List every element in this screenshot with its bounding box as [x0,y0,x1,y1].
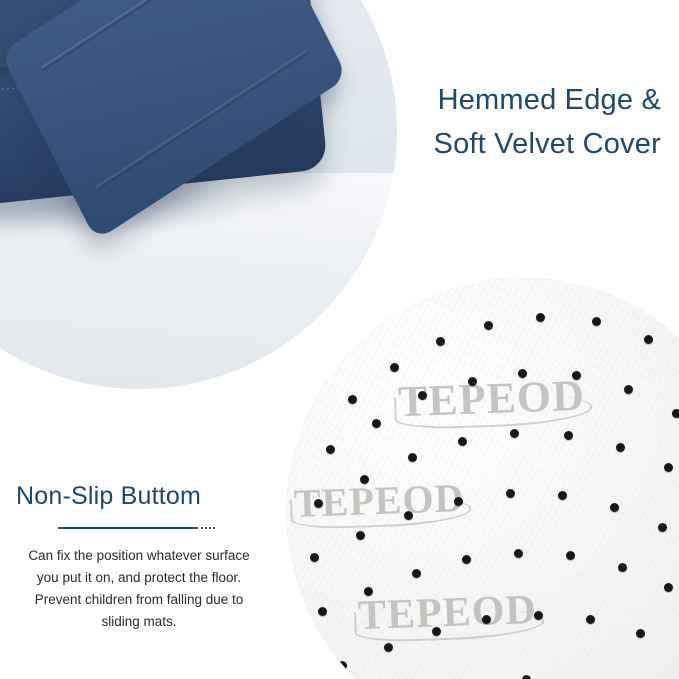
feature-title: Non-Slip Buttom [16,482,276,511]
anti-slip-dot [432,627,441,636]
anti-slip-dot [310,553,319,562]
anti-slip-dot [522,675,531,679]
anti-slip-dot [462,555,471,564]
anti-slip-dot [624,385,633,394]
feature-divider [58,527,198,529]
anti-slip-dot [314,499,323,508]
anti-slip-dot [482,615,491,624]
anti-slip-dot [418,391,427,400]
infographic-canvas: TEPEOD TEPEOD TEPEOD Hemmed Edge & Soft … [0,0,679,679]
headline: Hemmed Edge & Soft Velvet Cover [241,78,661,166]
anti-slip-dot [408,453,417,462]
anti-slip-dot [616,443,625,452]
feature-body-line-1: Can fix the position whatever surface [8,545,270,567]
product-photo-non-slip-mat: TEPEOD TEPEOD TEPEOD [286,277,679,679]
anti-slip-dot [404,511,413,520]
feature-body-line-3: Prevent children from falling due to [8,589,270,611]
anti-slip-dot [518,369,527,378]
anti-slip-dot [326,445,335,454]
anti-slip-dot [536,313,545,322]
anti-slip-dot [372,419,381,428]
anti-slip-dot [592,317,601,326]
anti-slip-dot [356,531,365,540]
feature-body: Can fix the position whatever surface yo… [8,545,270,632]
feature-body-line-2: you put it on, and protect the floor. [8,567,270,589]
anti-slip-dot [390,363,399,372]
anti-slip-dot [436,337,445,346]
anti-slip-dot [564,431,573,440]
anti-slip-dot [558,491,567,500]
anti-slip-dot [636,629,645,638]
feature-body-line-4: sliding mats. [8,611,270,633]
anti-slip-dot [318,607,327,616]
headline-line-2: Soft Velvet Cover [241,122,661,166]
anti-slip-dot [658,523,667,532]
anti-slip-dot [484,321,493,330]
anti-slip-dot [534,611,543,620]
headline-line-1: Hemmed Edge & [438,84,661,116]
anti-slip-dot [360,475,369,484]
anti-slip-dot [338,661,347,670]
anti-slip-dot [468,377,477,386]
anti-slip-dot [506,489,515,498]
anti-slip-dot [610,503,619,512]
anti-slip-dot [458,437,467,446]
anti-slip-dot [566,551,575,560]
anti-slip-dot [454,497,463,506]
anti-slip-dot [618,563,627,572]
anti-slip-dot [572,371,581,380]
anti-slip-dot [364,587,373,596]
anti-slip-dot [510,429,519,438]
anti-slip-dot [664,463,673,472]
anti-slip-dot [514,549,523,558]
anti-slip-dot [384,643,393,652]
anti-slip-dot [586,615,595,624]
anti-slip-dot [664,583,673,592]
anti-slip-dot [644,335,653,344]
anti-slip-dot-grid [286,277,679,679]
anti-slip-dot [672,409,679,418]
anti-slip-dot [412,569,421,578]
hem-stitch-line-top [41,0,243,68]
anti-slip-dot [348,395,357,404]
